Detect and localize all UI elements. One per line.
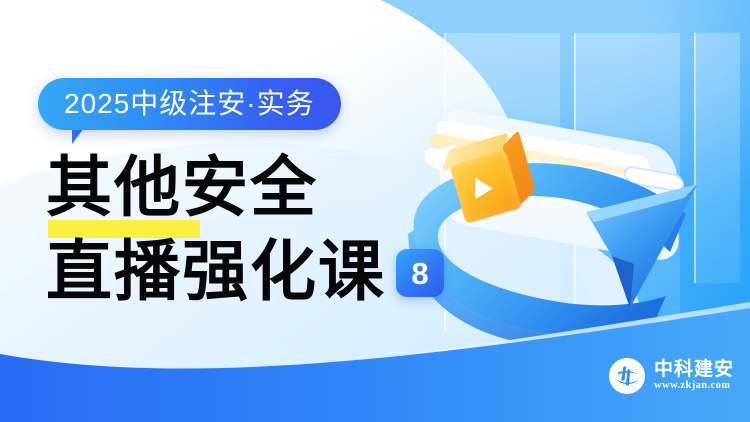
zkjan-mark-glyph: [612, 361, 642, 391]
headline-row-1: 其他安全: [46, 150, 444, 228]
zkjan-circle-logo-icon: [609, 358, 645, 394]
episode-number-badge: 8: [396, 249, 444, 297]
brand-logo: 中科建安 www.zkjan.com: [609, 358, 734, 394]
episode-number-label: 8: [411, 258, 428, 289]
brand-text-block: 中科建安 www.zkjan.com: [654, 360, 734, 392]
category-badge: 2025中级注安·实务: [38, 78, 341, 130]
headline-block: 其他安全 直播强化课 8: [46, 150, 444, 312]
headline-row-2: 直播强化课 8: [46, 234, 444, 312]
course-cover-banner: 2025中级注安·实务 其他安全 直播强化课 8 中科建安 www.zkjan.…: [0, 0, 750, 422]
brand-url: www.zkjan.com: [654, 381, 734, 392]
category-badge-label: 2025中级注安·实务: [64, 90, 315, 118]
brand-name: 中科建安: [654, 360, 734, 379]
badge-tail: [72, 128, 84, 144]
headline-line-1: 其他安全: [46, 156, 318, 222]
headline-line-2: 直播强化课: [46, 240, 386, 306]
play-triangle-icon: [475, 178, 493, 200]
